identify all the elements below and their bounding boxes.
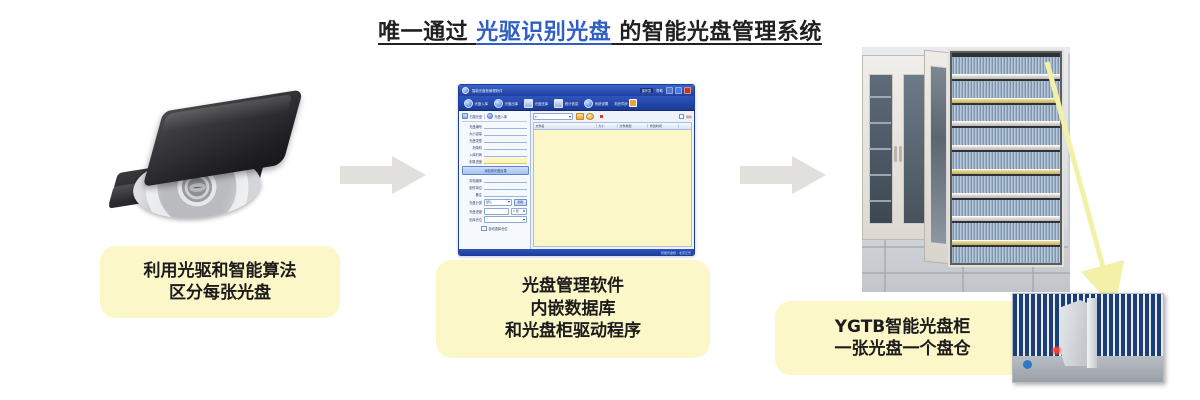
row-out-slot[interactable]: 出库仓位 (462, 216, 527, 223)
field-producer-unit[interactable]: 制作单位 (462, 185, 527, 190)
shelf-rail (952, 74, 1060, 79)
cabinet-main-body (948, 49, 1064, 267)
app-operator-badge: 操作员 (640, 88, 654, 93)
field-disc-type[interactable]: 光盘类型 (462, 137, 527, 142)
laser-indicator-icon (1050, 346, 1063, 355)
app-title-bar: 智能光盘柜管理软件 操作员 帮助 (459, 85, 694, 96)
tab-disc-in-label: 光盘入库 (494, 114, 507, 119)
path-select[interactable]: F: (533, 113, 573, 120)
field-archive-media[interactable]: 存档媒体 (462, 178, 527, 183)
field2-input-2[interactable] (484, 192, 527, 197)
out-slot-label: 出库仓位 (462, 217, 482, 222)
quantity-value: 1 张 (513, 209, 519, 213)
shelf-disc-stack (952, 152, 1060, 170)
cabinet-handle-right (899, 146, 902, 162)
toolbar-button-settings[interactable]: 系统设置 (582, 99, 610, 108)
field-disc-number[interactable]: 光盘编号 (462, 124, 527, 129)
arrow-software-to-cabinet (740, 156, 826, 194)
page-title: 唯一通过 光驱识别光盘 的智能光盘管理系统 (0, 14, 1200, 46)
toolbar-label-0: 光盘入库 (475, 101, 489, 106)
shelf-disc-stack (952, 105, 1060, 123)
gear-icon (584, 99, 593, 108)
auto-slot-checkbox-row[interactable]: 自动选择仓位 (462, 226, 527, 231)
chevron-down-icon-3 (569, 116, 571, 118)
field-input-4[interactable] (484, 151, 527, 156)
field-label-0: 光盘编号 (462, 124, 482, 129)
left-panel: 扫描光盘 光盘入库 光盘编号 大小容量 光盘类型 (459, 111, 531, 249)
left-panel-tabs[interactable]: 扫描光盘 光盘入库 (462, 113, 527, 122)
app-window-title: 智能光盘柜管理软件 (472, 88, 503, 93)
field-input-2[interactable] (484, 137, 527, 142)
field-input-5-highlighted[interactable] (484, 158, 527, 163)
shelf-disc-stack (952, 200, 1060, 218)
content-refresh-toggle[interactable]: 刷新 (679, 114, 692, 119)
app-help-link[interactable]: 帮助 (656, 88, 663, 93)
row-disc-progress: 光盘进度 1 张 (462, 208, 527, 215)
checkbox-icon[interactable] (481, 226, 486, 231)
stop-icon[interactable] (600, 115, 604, 119)
column-header-filetype[interactable]: 文件类型 (618, 124, 648, 128)
toolbar-button-stats[interactable]: 统计信息 (552, 99, 580, 108)
field2-label-0: 存档媒体 (462, 178, 482, 183)
minimize-icon[interactable] (666, 87, 673, 94)
disc-category-label: 光盘分类 (462, 200, 482, 205)
shelf-disc-stack (952, 176, 1060, 194)
slide-canvas: 唯一通过 光驱识别光盘 的智能光盘管理系统 智能光盘柜管理软件 操作员 帮助 (0, 0, 1200, 400)
disc-in-icon (464, 99, 473, 108)
field-label-1: 大小容量 (462, 131, 482, 136)
tab-separator (484, 114, 485, 119)
column-header-modified[interactable]: 修改时间 (648, 124, 678, 128)
field-input-3[interactable] (484, 144, 527, 149)
drive-body (143, 89, 304, 186)
tab-disc-in[interactable]: 光盘入库 (487, 113, 507, 119)
field-label-5: 刻录进度 (462, 159, 482, 164)
caption-software-line2: 内嵌数据库 (531, 298, 616, 320)
stats-icon (554, 99, 563, 108)
shelf-rail (952, 169, 1060, 174)
page-title-accent: 光驱识别光盘 (476, 20, 611, 45)
tab-scan-disc[interactable]: 扫描光盘 (462, 113, 482, 119)
toolbar-button-disc-out[interactable]: 光盘出库 (492, 99, 520, 108)
toolbar-label-2: 光盘还库 (535, 101, 549, 106)
shelf-disc-stack (952, 81, 1060, 99)
refresh-button[interactable]: 刷新 (514, 199, 527, 206)
caption-software: 光盘管理软件 内嵌数据库 和光盘柜驱动程序 (436, 260, 710, 358)
disc-category-value: 默认 (486, 200, 492, 204)
disc-management-software-window: 智能光盘柜管理软件 操作员 帮助 光盘入库 光盘出库 光盘还库 (458, 84, 695, 256)
content-refresh-label: 刷新 (686, 115, 692, 119)
stepper-arrows-icon[interactable] (523, 210, 525, 212)
toolbar-label-4: 系统设置 (595, 101, 609, 106)
caption-cabinet-line1: YGTB智能光盘柜 (835, 316, 971, 338)
toolbar-button-disc-return[interactable]: 光盘还库 (522, 99, 550, 108)
path-value: F: (535, 115, 538, 119)
field-input-0[interactable] (484, 124, 527, 129)
cabinet-side-panel (1068, 52, 1070, 265)
shelf-disc-stack (952, 223, 1060, 241)
page-title-suffix: 的智能光盘管理系统 (611, 20, 822, 45)
caption-drive-line1: 利用光驱和智能算法 (144, 260, 297, 282)
field-capacity[interactable]: 大小容量 (462, 130, 527, 135)
optical-drive-photo (105, 100, 310, 225)
content-toolbar[interactable]: F: 刷新 (533, 113, 692, 120)
field-in-time[interactable]: 入库时间 (462, 151, 527, 156)
field-recorder[interactable]: 刻录机 (462, 144, 527, 149)
toolbar-label-3: 统计信息 (565, 101, 579, 106)
app-logo-icon (462, 87, 469, 94)
chevron-down-icon-2 (523, 219, 525, 221)
blue-indicator-icon (1023, 360, 1032, 369)
shelf-disc-stack (952, 128, 1060, 146)
status-bar: 智能光盘柜 - 北京正普 (459, 249, 694, 256)
field-remark[interactable]: 备注 (462, 192, 527, 197)
disc-out-icon (494, 99, 503, 108)
field-label-3: 刻录机 (462, 145, 482, 150)
inset-gripper-arm (1087, 298, 1097, 368)
caption-drive-line2: 区分每张光盘 (169, 282, 271, 304)
column-header-size[interactable]: 大小 (597, 124, 618, 128)
window-controls[interactable] (666, 87, 691, 94)
checkbox-icon-2[interactable] (679, 114, 684, 119)
page-title-prefix: 唯一通过 (378, 20, 476, 45)
disc-icon (487, 113, 493, 119)
content-panel: F: 刷新 文件名 大小 文件类型 修改时间 (531, 111, 694, 249)
quantity-stepper[interactable]: 1 张 (511, 208, 527, 215)
arrow-drive-to-software (340, 156, 426, 194)
status-bar-text: 智能光盘柜 - 北京正普 (661, 251, 691, 255)
out-slot-select[interactable] (484, 216, 527, 223)
shelf-disc-stack (952, 247, 1060, 263)
chevron-down-icon (508, 201, 510, 203)
toolbar-label-5: 刻光同步 (614, 101, 628, 106)
cabinet-open-door (924, 50, 950, 265)
tab-scan-disc-label: 扫描光盘 (470, 114, 483, 119)
field-label-4: 入库时间 (462, 152, 482, 157)
shelf-rail (952, 216, 1060, 221)
close-icon[interactable] (684, 87, 691, 94)
folder-open-icon[interactable] (586, 113, 594, 120)
disc-category-select[interactable]: 默认 (484, 199, 512, 206)
file-list-area[interactable] (533, 129, 692, 247)
caption-cabinet-line2: 一张光盘一个盘仓 (835, 338, 971, 360)
folder-icon[interactable] (576, 113, 584, 120)
field2-input-0[interactable] (484, 178, 527, 183)
auto-slot-checkbox-label: 自动选择仓位 (488, 226, 507, 231)
maximize-icon[interactable] (675, 87, 682, 94)
shelf-rail (952, 193, 1060, 198)
shelf-rail (952, 145, 1060, 150)
slot-closeup-inset-photo (1012, 293, 1164, 383)
scan-icon (462, 113, 468, 119)
toolbar-button-disc-in[interactable]: 光盘入库 (462, 99, 490, 108)
cabinet-shelves (952, 53, 1060, 263)
caption-software-line3: 和光盘柜驱动程序 (505, 320, 641, 342)
cabinet-door-glass (930, 65, 947, 245)
field-burn-progress[interactable]: 刻录进度 (462, 158, 527, 163)
disc-progress-label: 光盘进度 (462, 209, 482, 214)
field2-input-1[interactable] (484, 185, 527, 190)
caption-cabinet: YGTB智能光盘柜 一张光盘一个盘仓 (775, 301, 1030, 375)
app-body: 扫描光盘 光盘入库 光盘编号 大小容量 光盘类型 (459, 111, 694, 249)
shelf-disc-stack (952, 57, 1060, 75)
field2-label-1: 制作单位 (462, 185, 482, 190)
row-disc-category[interactable]: 光盘分类 默认 刷新 (462, 199, 527, 206)
progress-bar (484, 208, 509, 215)
field-label-2: 光盘类型 (462, 138, 482, 143)
shelf-rail (952, 98, 1060, 103)
app-toolbar[interactable]: 光盘入库 光盘出库 光盘还库 统计信息 系统设置 刻光同步 (459, 96, 694, 111)
field2-label-2: 备注 (462, 192, 482, 197)
disc-cabinet-photo (862, 47, 1070, 292)
add-to-catalog-button[interactable]: 添加到光盘目录 (462, 166, 529, 175)
caption-drive: 利用光驱和智能算法 区分每张光盘 (100, 246, 340, 318)
shelf-rail (952, 240, 1060, 245)
cabinet-handle-left (894, 146, 897, 162)
field-input-1[interactable] (484, 130, 527, 135)
toolbar-button-sync[interactable]: 刻光同步 (612, 99, 639, 107)
shelf-rail (952, 121, 1060, 126)
disc-return-icon (524, 99, 533, 108)
sync-icon (629, 99, 637, 107)
toolbar-label-1: 光盘出库 (505, 101, 519, 106)
column-header-filename[interactable]: 文件名 (534, 124, 597, 128)
caption-software-line1: 光盘管理软件 (522, 275, 624, 297)
